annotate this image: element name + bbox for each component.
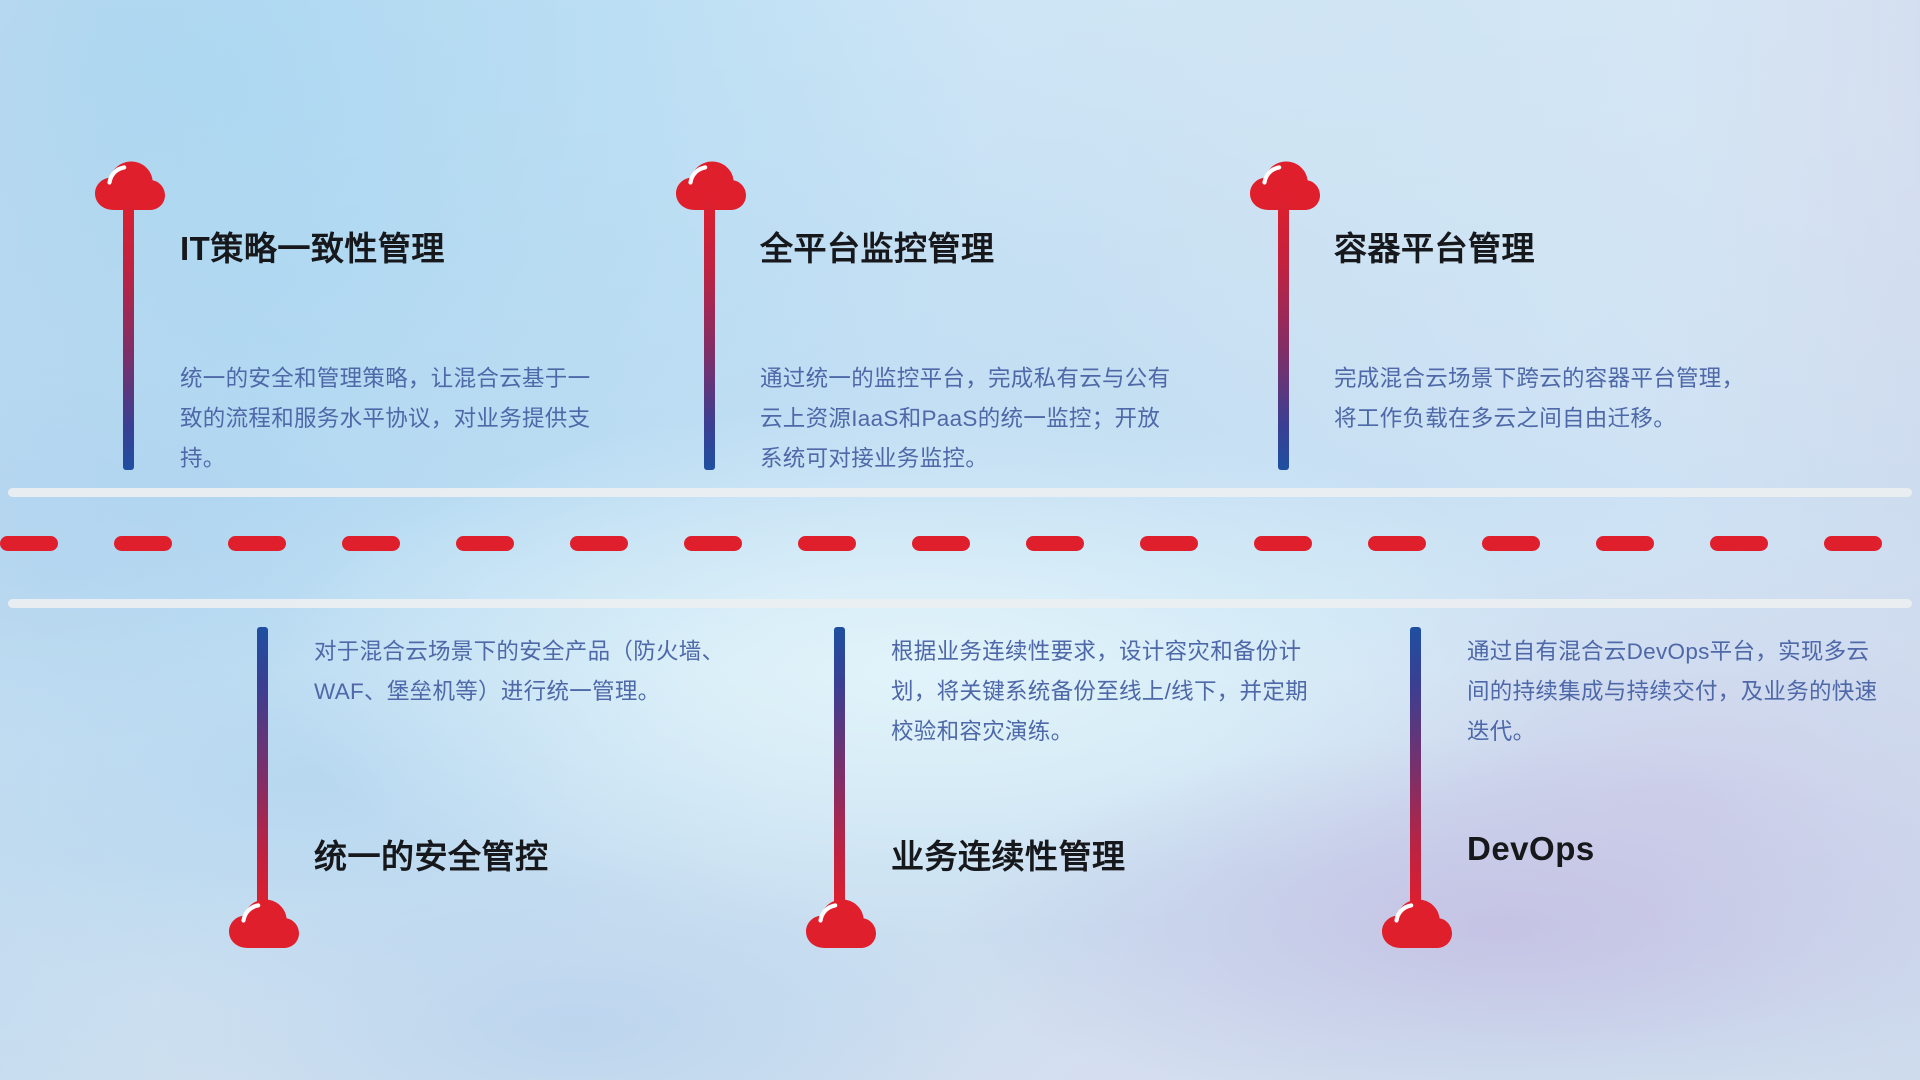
divider-dash bbox=[798, 536, 856, 551]
divider-dash bbox=[1596, 536, 1654, 551]
divider-dash bbox=[912, 536, 970, 551]
divider-dash bbox=[1140, 536, 1198, 551]
divider-dash bbox=[1368, 536, 1426, 551]
divider-rule-bottom bbox=[8, 599, 1912, 608]
divider-dash bbox=[228, 536, 286, 551]
infographic-canvas: IT策略一致性管理 统一的安全和管理策略，让混合云基于一致的流程和服务水平协议，… bbox=[0, 0, 1920, 1080]
divider-dash bbox=[342, 536, 400, 551]
divider-rule-top bbox=[8, 488, 1912, 497]
timeline-stem bbox=[834, 627, 845, 910]
timeline-stem bbox=[1410, 627, 1421, 910]
top-column-1-title: IT策略一致性管理 bbox=[180, 222, 445, 270]
timeline-stem bbox=[1278, 196, 1289, 470]
divider-dash bbox=[456, 536, 514, 551]
bottom-column-1-body: 对于混合云场景下的安全产品（防火墙、WAF、堡垒机等）进行统一管理。 bbox=[314, 632, 734, 712]
divider-dash bbox=[1482, 536, 1540, 551]
divider-dash bbox=[570, 536, 628, 551]
divider-dash bbox=[1026, 536, 1084, 551]
divider-dash bbox=[0, 536, 58, 551]
top-column-1-body: 统一的安全和管理策略，让混合云基于一致的流程和服务水平协议，对业务提供支持。 bbox=[180, 359, 600, 479]
top-column-3-body: 完成混合云场景下跨云的容器平台管理，将工作负载在多云之间自由迁移。 bbox=[1334, 359, 1764, 439]
bottom-column-3-title: DevOps bbox=[1467, 830, 1595, 868]
center-divider bbox=[0, 488, 1920, 608]
bottom-column-2-title: 业务连续性管理 bbox=[891, 830, 1126, 878]
cloud-icon bbox=[805, 898, 877, 950]
divider-dash bbox=[684, 536, 742, 551]
top-column-3-title: 容器平台管理 bbox=[1334, 222, 1535, 270]
timeline-stem bbox=[257, 627, 268, 910]
top-column-2-title: 全平台监控管理 bbox=[760, 222, 995, 270]
divider-dash bbox=[1254, 536, 1312, 551]
bottom-column-1-title: 统一的安全管控 bbox=[314, 830, 549, 878]
cloud-icon bbox=[228, 898, 300, 950]
bottom-column-3-body: 通过自有混合云DevOps平台，实现多云间的持续集成与持续交付，及业务的快速迭代… bbox=[1467, 632, 1887, 752]
timeline-stem bbox=[704, 196, 715, 470]
bottom-column-2-body: 根据业务连续性要求，设计容灾和备份计划，将关键系统备份至线上/线下，并定期校验和… bbox=[891, 632, 1311, 752]
divider-dash bbox=[1710, 536, 1768, 551]
top-column-2-body: 通过统一的监控平台，完成私有云与公有云上资源IaaS和PaaS的统一监控；开放系… bbox=[760, 359, 1180, 479]
divider-dashed-line bbox=[0, 536, 1920, 551]
cloud-icon bbox=[1381, 898, 1453, 950]
divider-dash bbox=[114, 536, 172, 551]
divider-dash bbox=[1824, 536, 1882, 551]
timeline-stem bbox=[123, 196, 134, 470]
